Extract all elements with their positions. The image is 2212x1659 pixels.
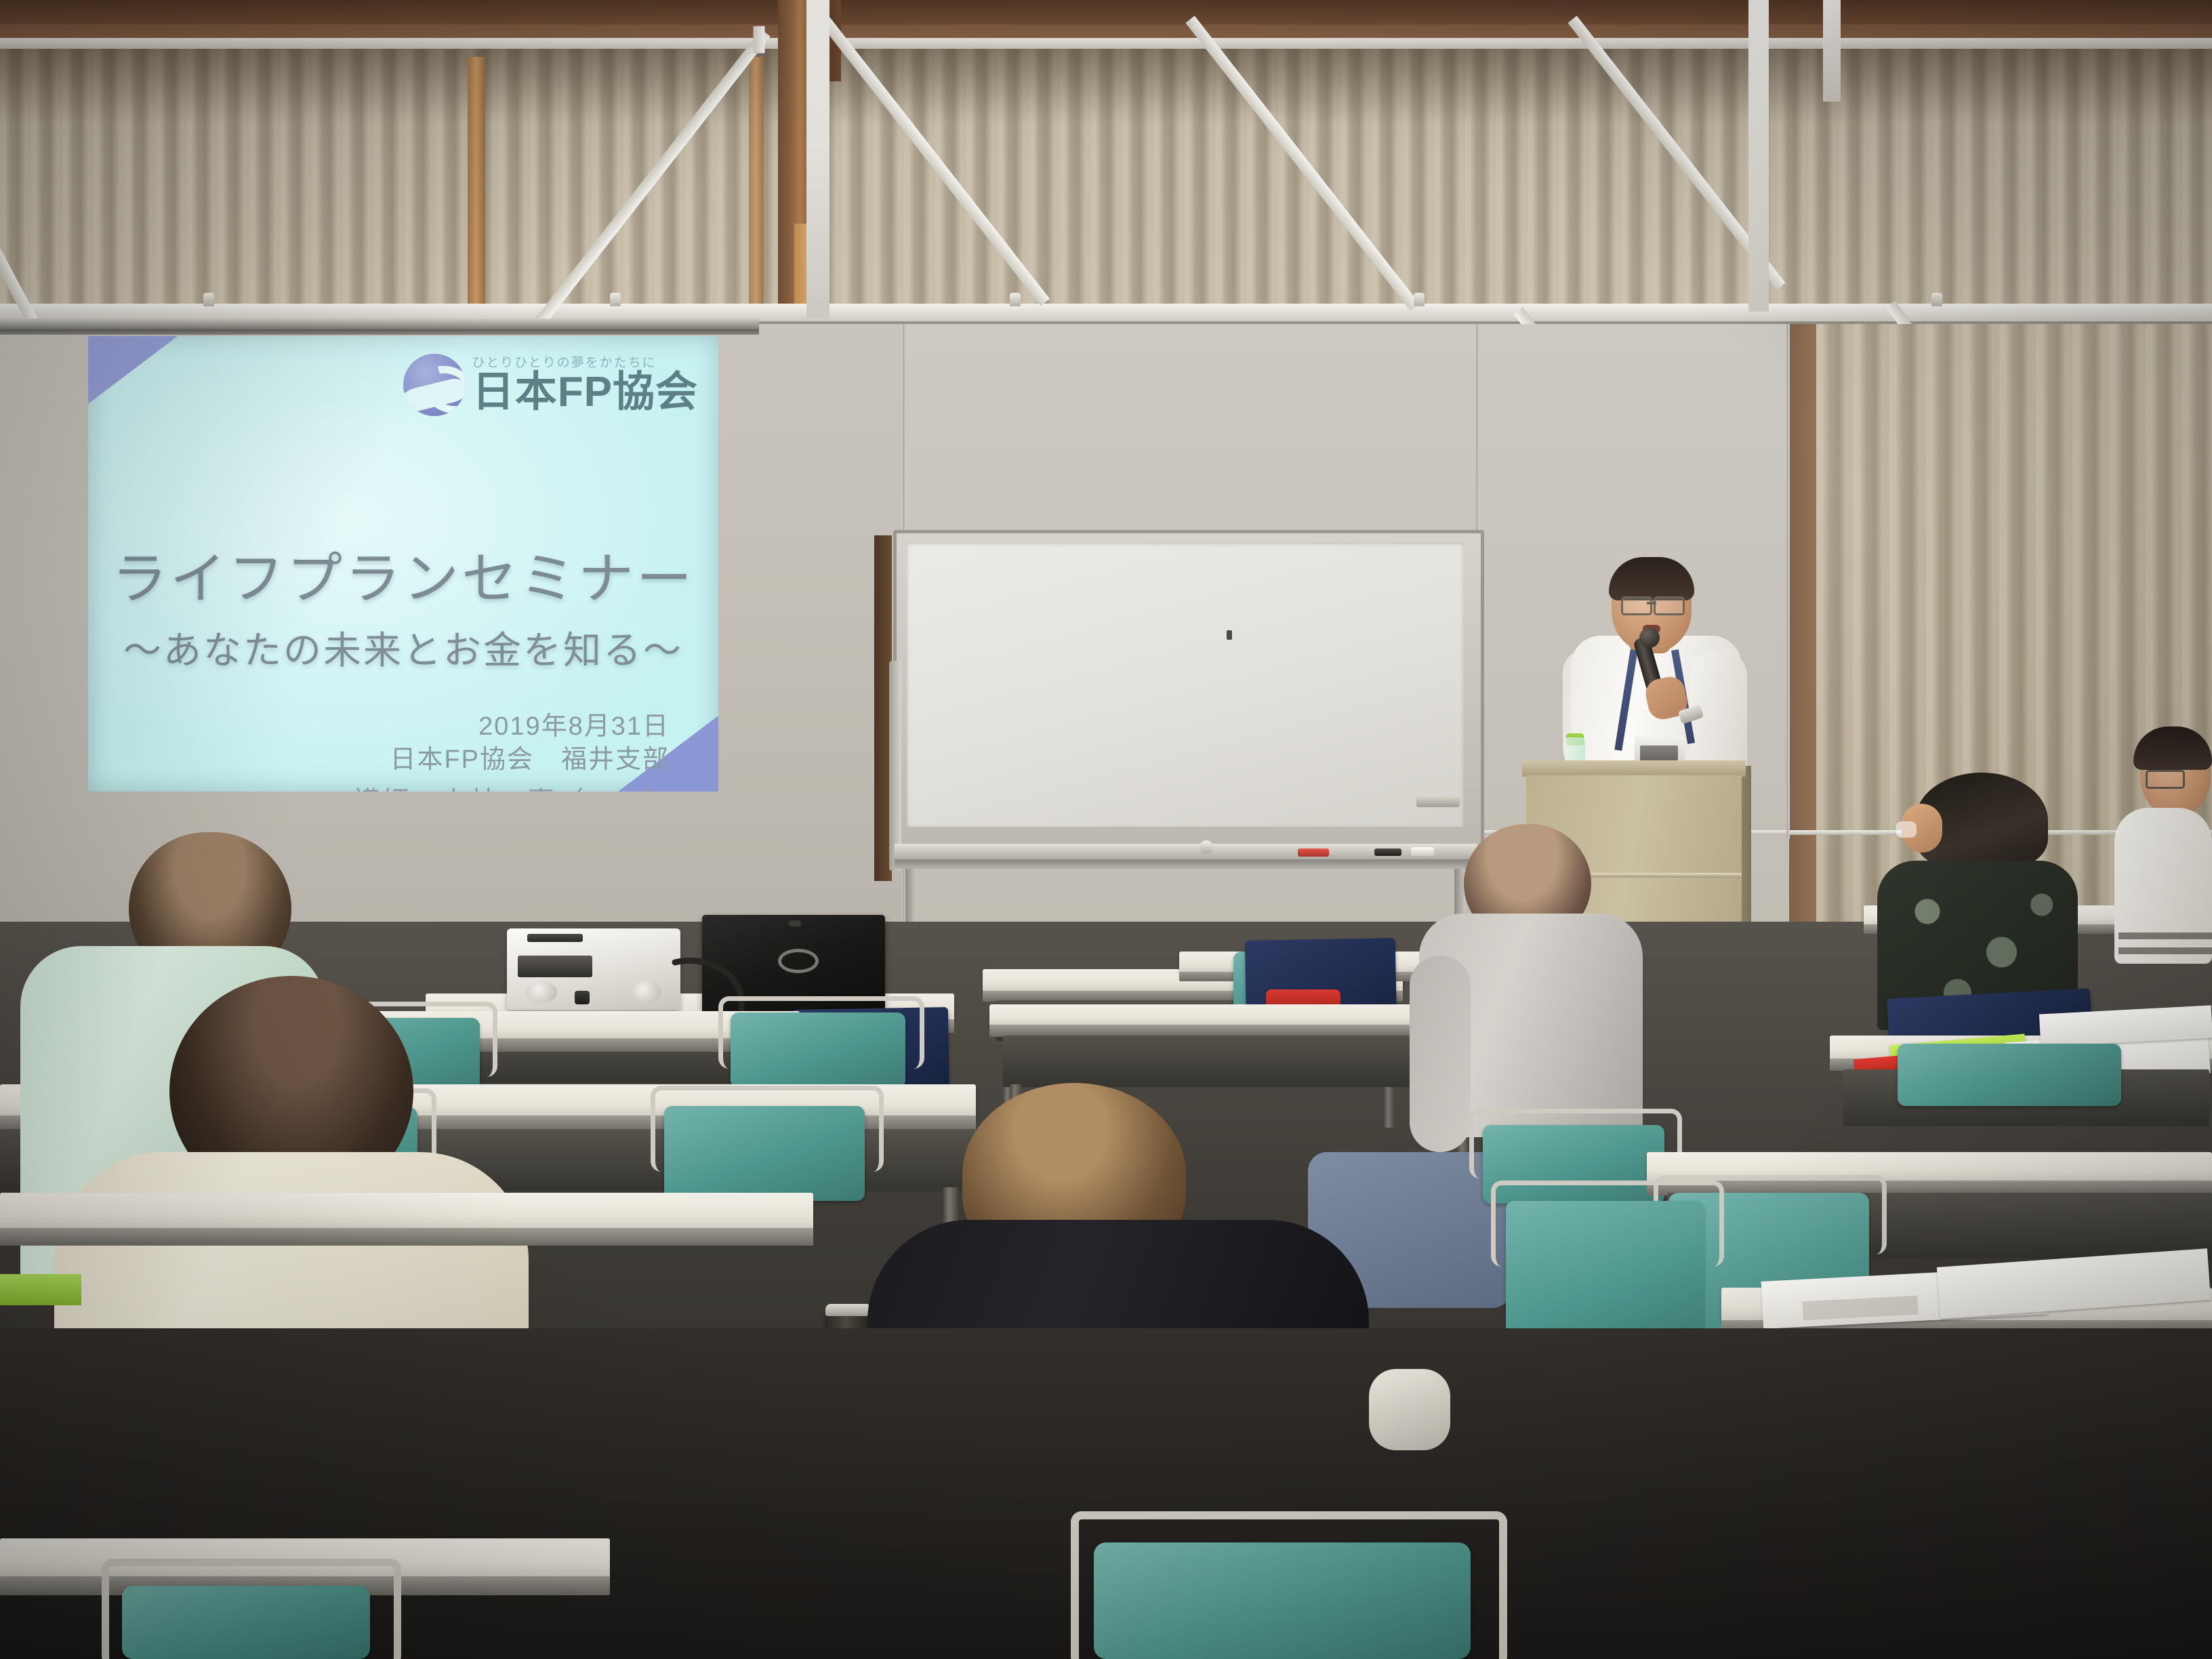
attendee-arm [1410, 956, 1471, 1152]
whiteboard-surface [907, 542, 1464, 827]
whiteboard-hinge [889, 661, 901, 871]
wall-seam [1786, 324, 1790, 839]
ceiling-shadow-band [0, 0, 2212, 24]
shoe [1369, 1369, 1450, 1450]
eyeglasses-icon [1654, 596, 1685, 615]
screen-roller-shadow [0, 329, 759, 335]
logo-globe-icon [403, 354, 466, 416]
slide-lecturer: 講師：小林 惠（AFP） [352, 779, 674, 792]
chair-seat [1094, 1542, 1471, 1659]
vertical-brace-center [806, 0, 829, 319]
chair-seat [122, 1586, 370, 1659]
seminar-room-photo: ひとりひとりの夢をかたちに 日本FP協会 ライフプランセミナー ～あなたの未来と… [0, 0, 2212, 1659]
attendee-torso [2114, 808, 2212, 964]
desk-apron [1003, 1036, 1471, 1087]
bolt-icon [610, 293, 621, 306]
logo-tagline: ひとりひとりの夢をかたちに [472, 356, 657, 371]
projection-screen: ひとりひとりの夢をかたちに 日本FP協会 ライフプランセミナー ～あなたの未来と… [88, 336, 718, 792]
slide-footer: 2019年8月31日 日本FP協会 福井支部 [390, 710, 670, 776]
whiteboard-eraser [1416, 796, 1460, 807]
fp-association-logo: ひとりひとりの夢をかたちに 日本FP協会 [403, 354, 698, 416]
lectern-top [1522, 760, 1746, 777]
desk-top [0, 1193, 813, 1231]
slide-corner-accent-top-left [88, 336, 178, 404]
projector-top-vent [527, 934, 583, 942]
whiteboard-knob [1200, 840, 1213, 854]
eyeglasses-icon [1621, 596, 1652, 615]
projector-port-panel [518, 956, 592, 977]
logo-text: ひとりひとりの夢をかたちに 日本FP協会 [472, 356, 698, 414]
whiteboard-tray-shadow [895, 859, 1477, 869]
slide-organization: 日本FP協会 福井支部 [390, 743, 670, 777]
polo-stripe [2118, 933, 2212, 939]
projector-lens-2 [630, 981, 661, 1003]
bolt-icon [1010, 293, 1021, 306]
green-folder [0, 1274, 81, 1305]
desk-edge [0, 1228, 813, 1246]
eyeglasses-bridge [1647, 602, 1656, 605]
black-marker [1374, 848, 1401, 856]
vertical-brace-right [1748, 0, 1769, 312]
bolt-icon [1931, 293, 1942, 306]
curtain-top-shadow [0, 49, 2212, 123]
chair-back [731, 1012, 905, 1088]
bolt-icon [1414, 293, 1425, 306]
chair-back [1898, 1044, 2121, 1106]
curtain-seam-left [468, 57, 485, 328]
laptop-camera-icon [789, 920, 801, 926]
slide-title: ライフプランセミナー [88, 552, 718, 607]
desk-top [989, 1004, 1477, 1027]
whiteboard-smudge [1227, 630, 1232, 640]
polo-stripe [2118, 947, 2212, 954]
vertical-brace-right-2 [1823, 0, 1841, 102]
screen-roller-housing [0, 319, 759, 329]
logo-name: 日本FP協会 [472, 371, 698, 413]
eyeglasses-icon [1896, 821, 1917, 838]
eyeglasses-icon [2146, 770, 2185, 789]
slide-date: 2019年8月31日 [390, 710, 670, 743]
diagonal-brace-3 [754, 26, 765, 54]
chair-back [664, 1106, 865, 1201]
curtain-seam-right [749, 57, 764, 328]
projector-lens [526, 981, 557, 1003]
microphone-head-icon [1639, 628, 1660, 648]
red-marker [1298, 848, 1329, 857]
name-badge-text [1640, 745, 1678, 760]
bolt-icon [203, 293, 214, 306]
white-eraser-block [1411, 847, 1434, 856]
coffee-can-lid [825, 1304, 872, 1316]
projector-focus-dial [575, 991, 590, 1004]
slide-subtitle: ～あなたの未来とお金を知る～ [88, 632, 718, 670]
